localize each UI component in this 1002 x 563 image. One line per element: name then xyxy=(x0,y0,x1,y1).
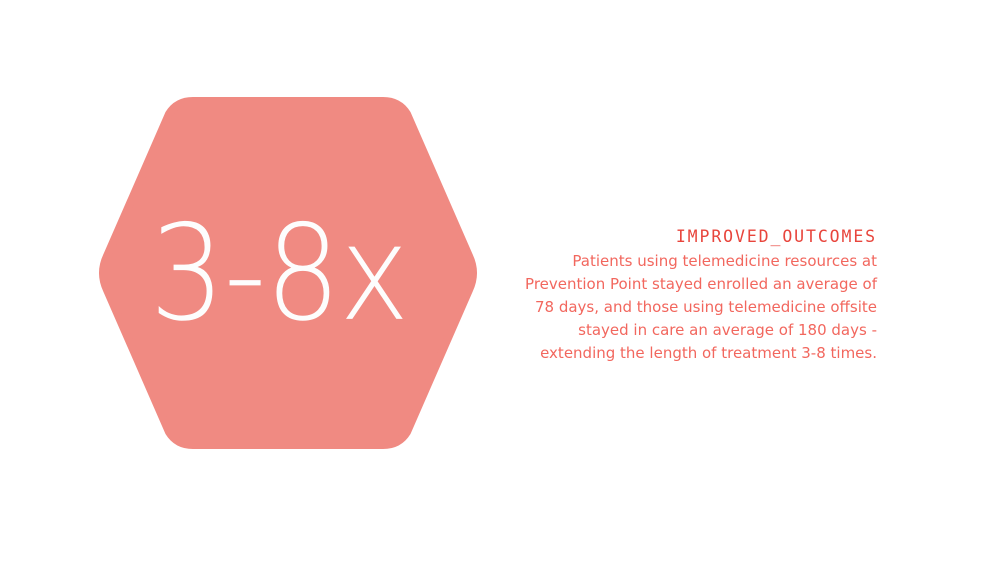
text-block: IMPROVED_OUTCOMES Patients using telemed… xyxy=(457,225,877,365)
body-line: stayed in care an average of 180 days - xyxy=(457,319,877,342)
body-line: 78 days, and those using telemedicine of… xyxy=(457,296,877,319)
body-copy: Patients using telemedicine resources at… xyxy=(457,250,877,365)
infographic-card: 3-8x IMPROVED_OUTCOMES Patients using te… xyxy=(0,0,1002,563)
body-line: Prevention Point stayed enrolled an aver… xyxy=(457,273,877,296)
statistic-hexagon-badge: 3-8x xyxy=(100,97,476,449)
section-heading: IMPROVED_OUTCOMES xyxy=(457,225,877,249)
hexagon-icon xyxy=(100,97,476,449)
body-line: extending the length of treatment 3-8 ti… xyxy=(457,342,877,365)
body-line: Patients using telemedicine resources at xyxy=(457,250,877,273)
